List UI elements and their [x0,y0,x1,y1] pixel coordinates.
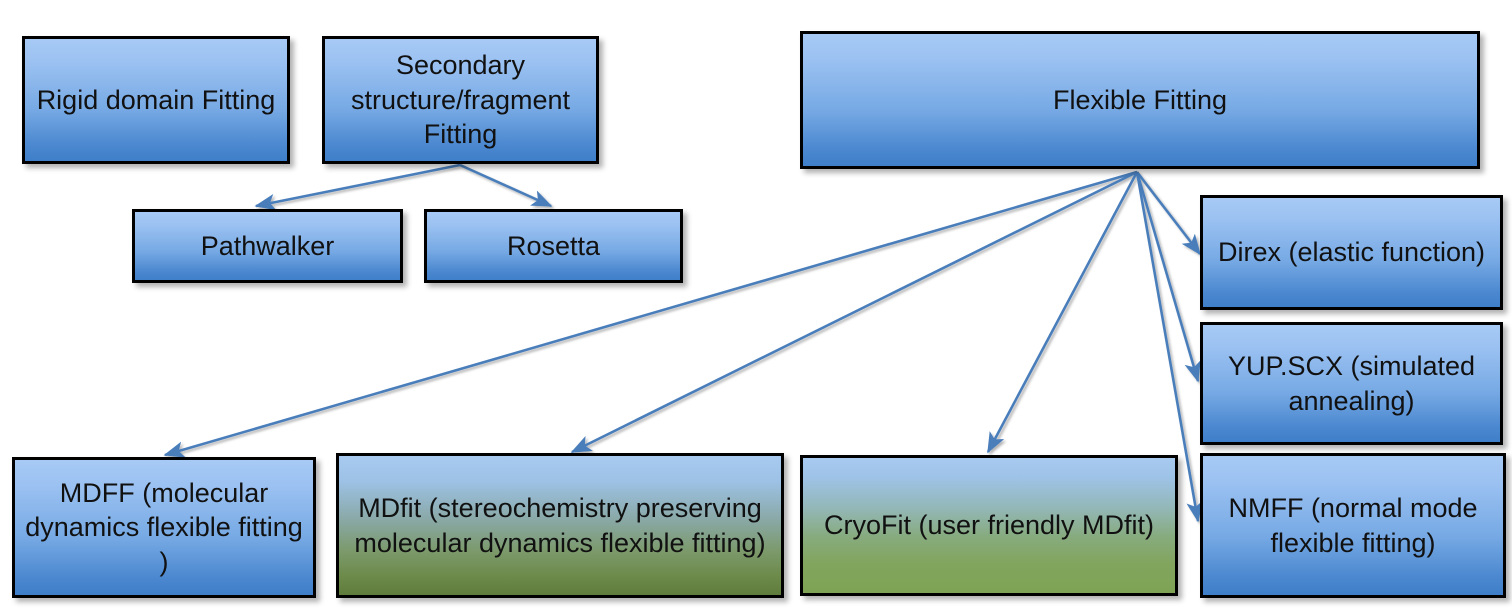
node-secondary-structure-fragment-fitting[interactable]: Secondary structure/fragment Fitting [322,36,599,164]
node-rigid-domain-fitting[interactable]: Rigid domain Fitting [22,36,290,164]
edge-flexible-to-yupscx [1137,172,1198,381]
node-label-yup-scx: YUP.SCX (simulated annealing) [1211,349,1492,418]
node-cryofit[interactable]: CryoFit (user friendly MDfit) [800,455,1178,596]
node-label-direx: Direx (elastic function) [1211,235,1492,270]
node-label-rosetta: Rosetta [435,229,672,264]
node-label-nmff: NMFF (normal mode flexible fitting) [1211,491,1495,560]
node-label-flexible-fitting: Flexible Fitting [811,83,1469,118]
node-flexible-fitting[interactable]: Flexible Fitting [800,31,1480,169]
node-direx[interactable]: Direx (elastic function) [1200,195,1503,310]
node-yup-scx[interactable]: YUP.SCX (simulated annealing) [1200,322,1503,445]
node-rosetta[interactable]: Rosetta [424,209,683,283]
node-pathwalker[interactable]: Pathwalker [132,209,403,283]
node-label-secondary-structure-fragment-fitting: Secondary structure/fragment Fitting [333,48,588,152]
node-label-rigid-domain-fitting: Rigid domain Fitting [33,83,279,118]
edge-flexible-to-direx [1137,172,1200,254]
node-nmff[interactable]: NMFF (normal mode flexible fitting) [1200,453,1506,598]
node-mdfit[interactable]: MDfit (stereochemistry preserving molecu… [336,453,784,598]
edge-flexible-to-cryofit [988,172,1137,452]
diagram-canvas: Rigid domain FittingSecondary structure/… [0,0,1512,610]
node-label-mdfit: MDfit (stereochemistry preserving molecu… [347,491,773,560]
edge-secondary-to-rosetta [460,165,551,206]
edge-secondary-to-pathwalker [256,165,460,206]
node-label-pathwalker: Pathwalker [143,229,392,264]
node-label-cryofit: CryoFit (user friendly MDfit) [811,508,1167,543]
node-label-mdff: MDFF (molecular dynamics flexible fittin… [23,476,305,580]
node-mdff[interactable]: MDFF (molecular dynamics flexible fittin… [12,457,316,598]
